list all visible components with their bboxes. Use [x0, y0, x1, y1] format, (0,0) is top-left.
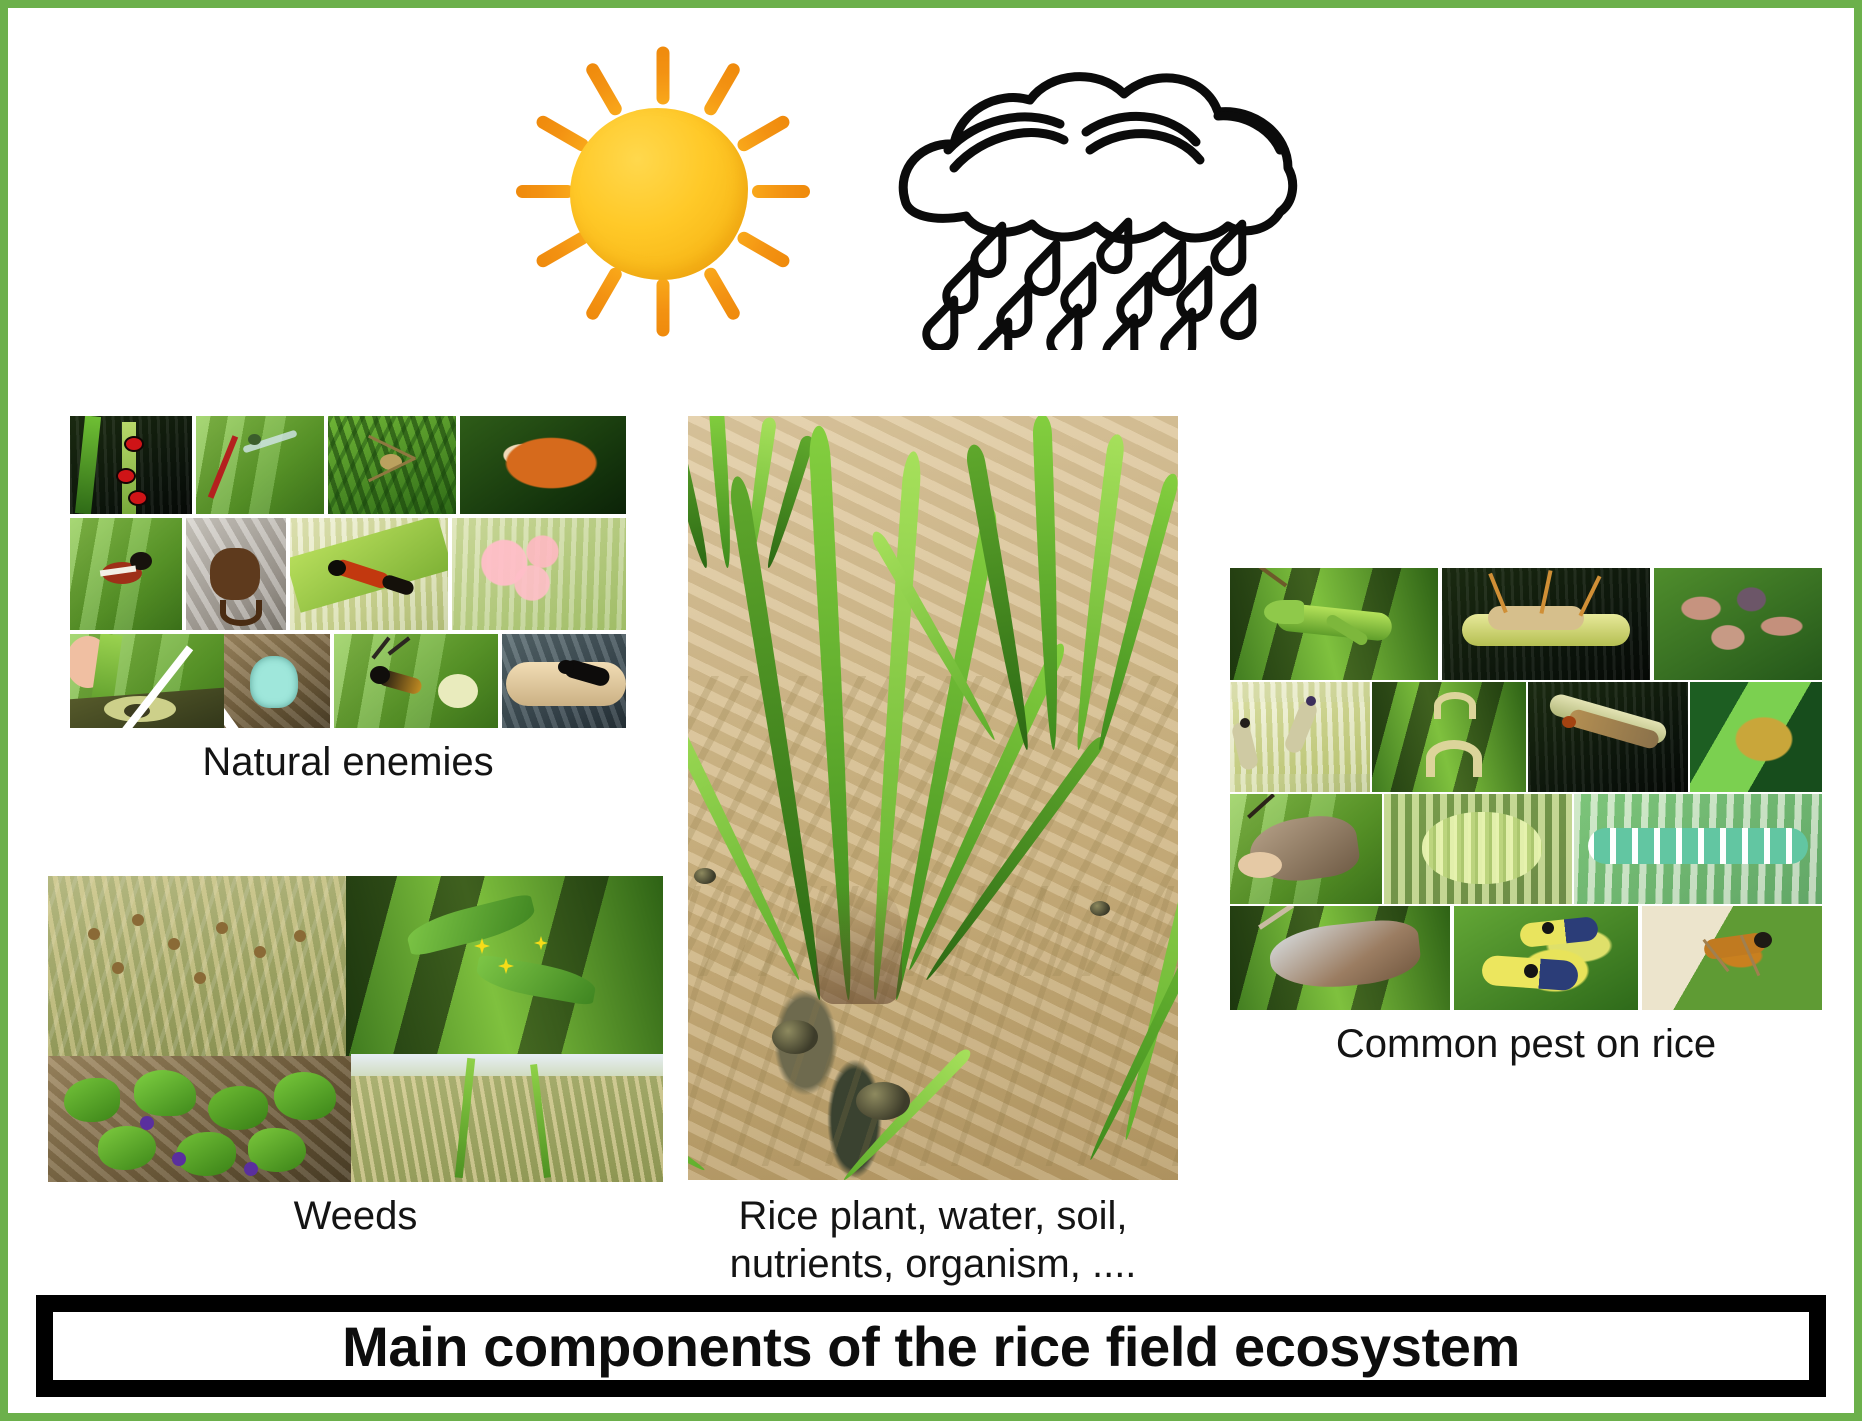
photo-broadleaf-weed-with-yellow-flowers — [346, 876, 663, 1056]
snail — [694, 868, 716, 884]
panel-natural-enemies: Natural enemies — [48, 416, 648, 728]
weather-illustration — [8, 8, 1854, 388]
photo-earwig-on-stone — [186, 518, 286, 630]
photo-sedge-weed-with-seed-heads — [48, 876, 348, 1058]
photo-armyworm-on-panicle — [1528, 682, 1688, 792]
photo-ant-mimic-spider-on-leaf — [70, 518, 182, 630]
photo-spider-in-grass — [328, 416, 456, 514]
photo-brown-planthopper-colony — [1654, 568, 1822, 680]
title-banner: Main components of the rice field ecosys… — [36, 1295, 1826, 1397]
photo-green-leafhoppers — [1454, 906, 1638, 1010]
photo-mealybug-on-leaf — [1384, 794, 1572, 904]
photo-green-semilooper-caterpillar — [1574, 794, 1822, 904]
caption-rice: Rice plant, water, soil, nutrients, orga… — [688, 1192, 1178, 1288]
photo-grassy-weed-in-rice-field — [351, 1054, 663, 1182]
page-title: Main components of the rice field ecosys… — [342, 1314, 1520, 1379]
natural-enemies-collage — [48, 416, 648, 728]
photo-green-grasshopper-on-leaf — [1230, 568, 1438, 680]
photo-rice-gall-midge — [1642, 906, 1822, 1010]
photo-rove-beetle-on-stem — [290, 518, 448, 630]
caption-weeds: Weeds — [48, 1192, 663, 1240]
photo-parasitoid-wasp-attacking-aphid — [334, 634, 498, 728]
photo-wasp-on-pink-egg-mass — [452, 518, 626, 630]
rain-cloud-icon — [888, 50, 1308, 350]
photo-white-backed-planthopper — [1230, 906, 1450, 1010]
snail — [1090, 901, 1110, 916]
panel-rice-ecosystem: Rice plant, water, soil, nutrients, orga… — [688, 416, 1178, 1180]
snail — [856, 1082, 910, 1120]
photo-brown-stink-bug — [1230, 794, 1382, 904]
caption-natural-enemies: Natural enemies — [48, 738, 648, 786]
photo-ladybird-beetles-on-rice-panicle — [70, 416, 192, 514]
photo-rice-seedlings-in-flooded-sandy-field-with-snails — [688, 416, 1178, 1180]
photo-rice-bug-on-panicle — [1442, 568, 1650, 680]
photo-stem-borer-larvae-on-stem — [1230, 682, 1370, 792]
sun-icon — [508, 56, 818, 326]
photo-monochoria-with-purple-flowers — [48, 1056, 353, 1182]
panel-common-pests: Common pest on rice — [1230, 568, 1822, 1010]
photo-black-wasp-on-cream-larva — [502, 634, 626, 728]
sun-core — [570, 108, 748, 280]
snail — [772, 1020, 818, 1054]
caption-common-pests: Common pest on rice — [1230, 1020, 1822, 1068]
weeds-collage — [48, 876, 663, 1182]
panel-weeds: Weeds — [48, 876, 663, 1182]
common-pests-collage — [1230, 568, 1822, 1010]
poster-root: Natural enemies — [0, 0, 1862, 1421]
photo-hand-holding-leaf-with-caterpillar — [70, 634, 246, 728]
photo-damselfly-on-leaf — [196, 416, 324, 514]
photo-rice-skipper-butterfly — [1690, 682, 1822, 792]
photo-green-shield-bug-on-soil — [224, 634, 330, 728]
photo-pale-grub-on-leaf — [1372, 682, 1526, 792]
photo-orange-shield-bug — [460, 416, 626, 514]
